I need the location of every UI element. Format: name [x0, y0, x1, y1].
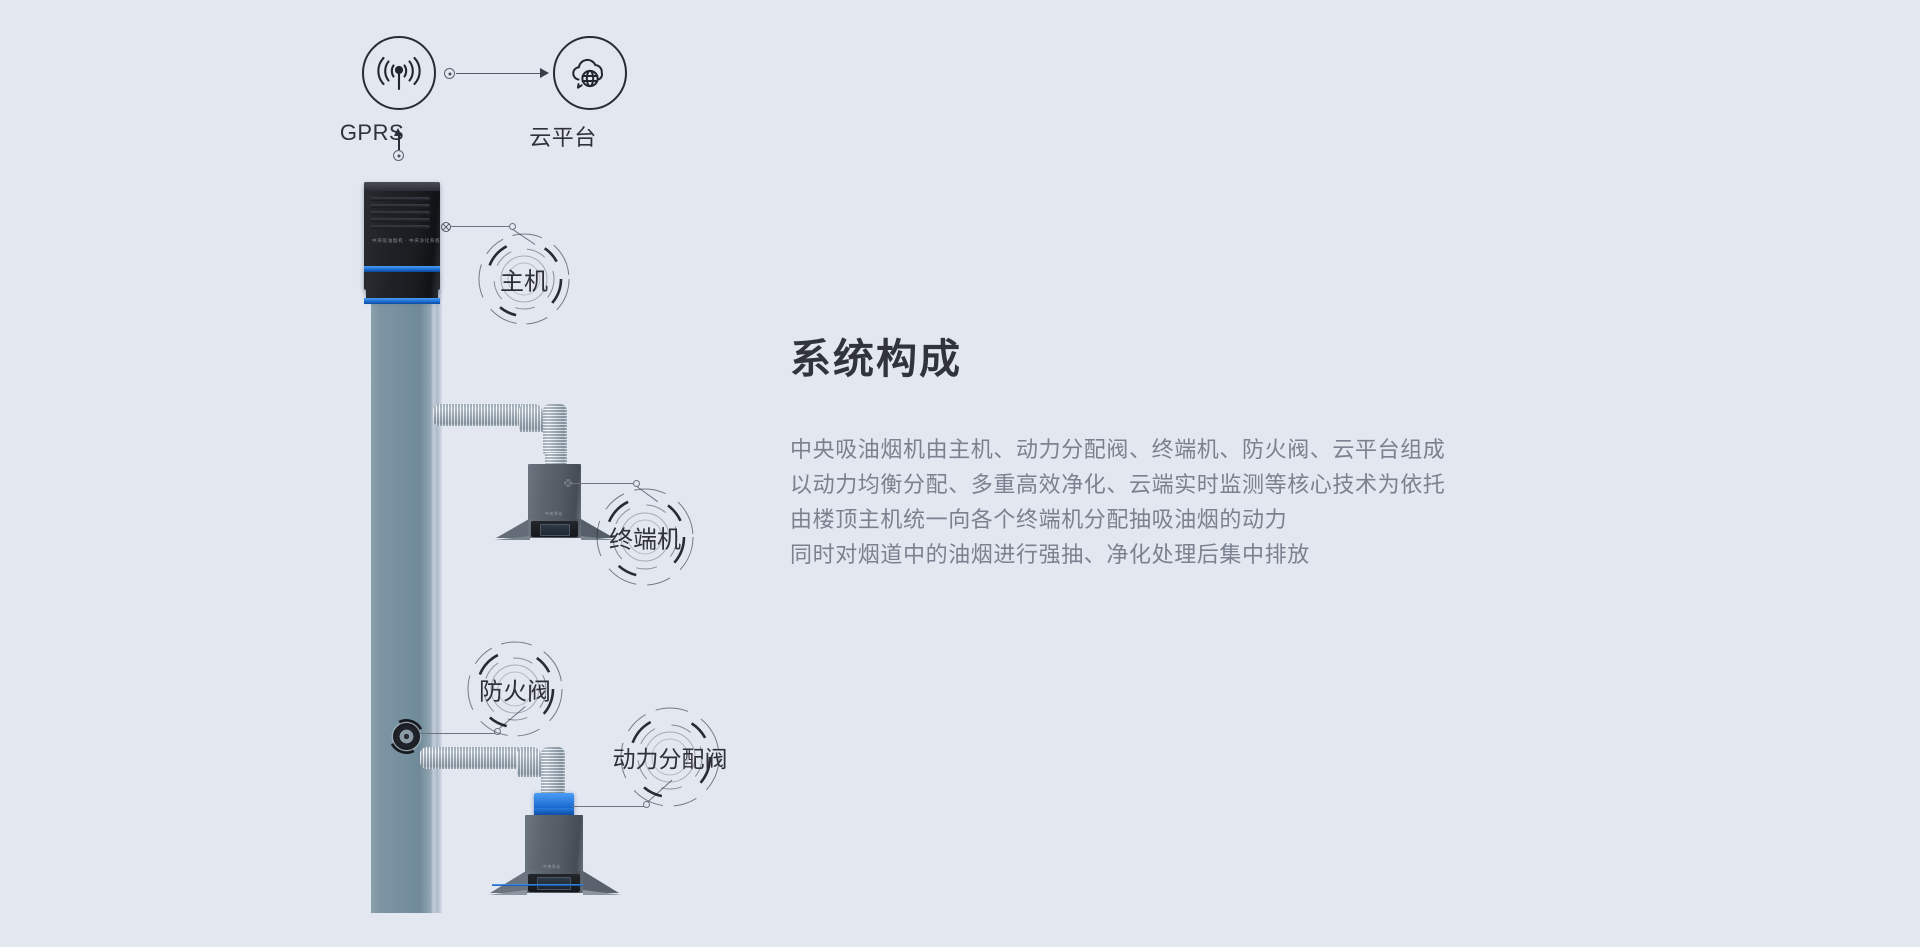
bottom-hood-right-lip [583, 890, 622, 895]
bottom-branch-duct-horizontal [420, 747, 526, 769]
host-unit-top-cap [364, 182, 440, 191]
gprs-to-cloud-arrow-line [456, 73, 542, 74]
bottom-hood-light-strip [492, 884, 583, 886]
gprs-to-cloud-arrow-head [540, 68, 549, 78]
panel-line: 由楼顶主机统一向各个终端机分配抽吸油烟的动力 [790, 502, 1550, 537]
host-uplink-bullet [393, 150, 404, 161]
callout-label-damper: 防火阀 [479, 672, 551, 707]
arrow-origin-bullet [444, 68, 455, 79]
panel-line: 同时对烟道中的油烟进行强抽、净化处理后集中排放 [790, 537, 1550, 572]
terminal-branch-duct-vertical [543, 404, 567, 458]
host-uplink-arrow-head [394, 128, 402, 136]
terminal-hood-left-lip [494, 536, 530, 540]
terminal-branch-duct-elbow [519, 404, 543, 432]
fire-damper-icon [393, 723, 420, 750]
bottom-hood-left-lip [488, 890, 527, 895]
bottom-hood-brand: 中央净化 [543, 864, 561, 870]
terminal-hood-brand: 中央净化 [545, 511, 563, 517]
host-unit: 中央吸油烟机 · 中央净化系统 [364, 182, 440, 290]
host-leader-line [450, 226, 510, 227]
callout-label-valve: 动力分配阀 [613, 740, 728, 774]
callout-badge-terminal: 终端机 [594, 486, 696, 588]
gprs-node-label: GPRS [292, 120, 452, 146]
panel-line: 以动力均衡分配、多重高效净化、云端实时监测等核心技术为依托 [790, 467, 1550, 502]
bottom-branch-duct-elbow [517, 747, 541, 777]
callout-label-host: 主机 [500, 262, 548, 297]
vertical-duct-shaft-edge [433, 290, 442, 913]
system-composition-diagram: GPRS 云平台 中央吸油烟机 · 中央净化系统 [0, 0, 1920, 947]
power-distribution-valve-band [534, 808, 574, 813]
callout-badge-host: 主机 [476, 231, 572, 327]
host-vent-slot [370, 197, 430, 201]
cloud-node-label: 云平台 [483, 120, 643, 152]
callout-label-terminal: 终端机 [609, 520, 681, 555]
terminal-leader-line [572, 483, 634, 484]
antenna-signal-icon [376, 51, 422, 95]
terminal-branch-duct-horizontal [433, 404, 528, 426]
host-accent-band-lower [364, 298, 440, 304]
host-vent-slot [370, 211, 430, 215]
panel-title: 系统构成 [790, 325, 1550, 385]
host-callout-anchor [441, 222, 451, 232]
gprs-node-icon [362, 36, 436, 110]
info-panel: 系统构成 中央吸油烟机由主机、动力分配阀、终端机、防火阀、云平台组成 以动力均衡… [790, 325, 1550, 572]
power-distribution-valve [534, 793, 574, 817]
callout-badge-damper: 防火阀 [465, 639, 565, 739]
cloud-node-icon [553, 36, 627, 110]
host-vent-slot [370, 225, 430, 229]
panel-line: 中央吸油烟机由主机、动力分配阀、终端机、防火阀、云平台组成 [790, 432, 1550, 467]
callout-badge-valve: 动力分配阀 [618, 705, 722, 809]
host-brand-text: 中央吸油烟机 · 中央净化系统 [372, 238, 440, 244]
host-lower-box [366, 272, 438, 300]
host-vent-slot [370, 204, 430, 208]
vertical-duct-shaft [371, 290, 433, 913]
cloud-globe-icon [567, 52, 613, 94]
host-vent-slot [370, 218, 430, 222]
host-uplink-stem [398, 136, 400, 150]
terminal-hood-display[interactable] [540, 524, 570, 536]
